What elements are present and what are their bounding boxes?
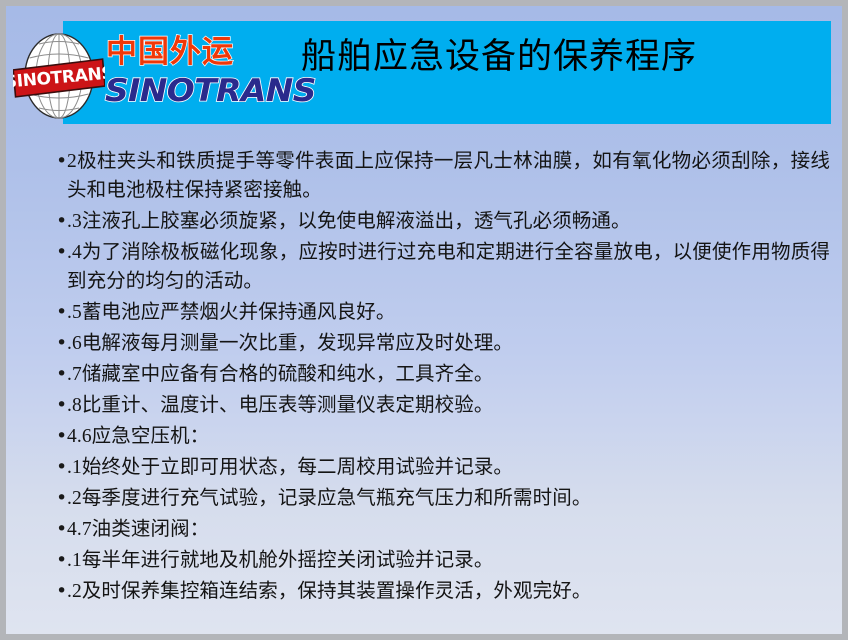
list-item-text: .6电解液每月测量一次比重，发现异常应及时处理。 [67,329,830,358]
logo-chinese-name: 中国外运 [106,34,234,70]
bullet-icon: • [40,298,67,327]
bullet-icon: • [40,147,67,176]
bullet-icon: • [40,207,67,236]
list-item: • 4.6应急空压机： [40,422,830,451]
list-item: • .5蓄电池应严禁烟火并保持通风良好。 [40,298,830,327]
bullet-icon: • [40,238,67,267]
bullet-icon: • [40,546,67,575]
list-item-text: .3注液孔上胶塞必须旋紧，以免使电解液溢出，透气孔必须畅通。 [67,207,830,236]
list-item-text: 4.6应急空压机： [67,422,830,451]
list-item: • .1始终处于立即可用状态，每二周校用试验并记录。 [40,453,830,482]
list-item: • .8比重计、温度计、电压表等测量仪表定期校验。 [40,391,830,420]
list-item: • .7储藏室中应备有合格的硫酸和纯水，工具齐全。 [40,360,830,389]
bullet-icon: • [40,422,67,451]
list-item-text: .4为了消除极板磁化现象，应按时进行过充电和定期进行全容量放电，以便使作用物质得… [67,238,830,296]
list-item-text: .1每半年进行就地及机舱外摇控关闭试验并记录。 [67,546,830,575]
bullet-icon: • [40,329,67,358]
bullet-icon: • [40,453,67,482]
list-item-text: .2每季度进行充气试验，记录应急气瓶充气压力和所需时间。 [67,484,830,513]
list-item: • 2极柱夹头和铁质提手等零件表面上应保持一层凡士林油膜，如有氧化物必须刮除，接… [40,147,830,205]
list-item: • .4为了消除极板磁化现象，应按时进行过充电和定期进行全容量放电，以便使作用物… [40,238,830,296]
bullet-icon: • [40,577,67,606]
list-item: • 4.7油类速闭阀： [40,515,830,544]
list-item: • .2每季度进行充气试验，记录应急气瓶充气压力和所需时间。 [40,484,830,513]
list-item-text: .5蓄电池应严禁烟火并保持通风良好。 [67,298,830,327]
bullet-list: • 2极柱夹头和铁质提手等零件表面上应保持一层凡士林油膜，如有氧化物必须刮除，接… [40,147,830,608]
list-item: • .3注液孔上胶塞必须旋紧，以免使电解液溢出，透气孔必须畅通。 [40,207,830,236]
bullet-icon: • [40,360,67,389]
bullet-icon: • [40,515,67,544]
list-item: • .6电解液每月测量一次比重，发现异常应及时处理。 [40,329,830,358]
list-item-text: .2及时保养集控箱连结索，保持其装置操作灵活，外观完好。 [67,577,830,606]
slide-canvas: 船舶应急设备的保养程序 SINOTRANS 中国外运 SINOTRANS [0,0,848,640]
sinotrans-logo: SINOTRANS 中国外运 SINOTRANS [10,28,268,124]
list-item-text: 4.7油类速闭阀： [67,515,830,544]
list-item-text: 2极柱夹头和铁质提手等零件表面上应保持一层凡士林油膜，如有氧化物必须刮除，接线头… [67,147,830,205]
list-item: • .2及时保养集控箱连结索，保持其装置操作灵活，外观完好。 [40,577,830,606]
list-item-text: .8比重计、温度计、电压表等测量仪表定期校验。 [67,391,830,420]
list-item-text: .7储藏室中应备有合格的硫酸和纯水，工具齐全。 [67,360,830,389]
globe-icon: SINOTRANS [13,30,105,122]
bullet-icon: • [40,391,67,420]
bullet-icon: • [40,484,67,513]
logo-english-name: SINOTRANS [105,73,316,109]
list-item-text: .1始终处于立即可用状态，每二周校用试验并记录。 [67,453,830,482]
list-item: • .1每半年进行就地及机舱外摇控关闭试验并记录。 [40,546,830,575]
